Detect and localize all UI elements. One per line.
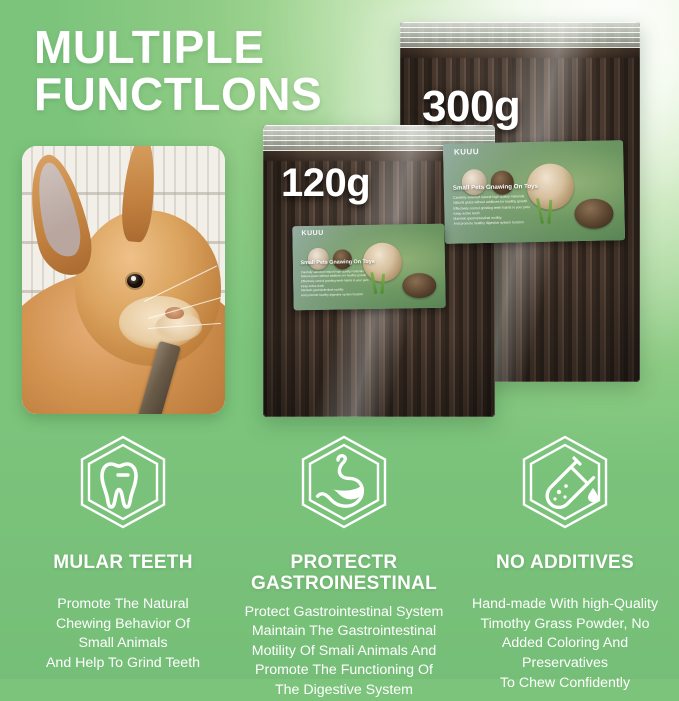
feature-body-line: Motility Of Smali Animals And	[240, 642, 448, 662]
feature-body-line: Timothy Grass Powder, No	[462, 615, 668, 635]
brand-logo-120g: KUUU	[301, 230, 323, 237]
zip-seal-lines	[400, 22, 640, 47]
feature-body-line: To Chew Confidently	[462, 674, 668, 694]
page-title: MULTIPLE FUNCTLONS	[34, 24, 322, 119]
feature-title-line: PROTECTR	[240, 552, 448, 573]
feature-body-mular-teeth: Promote The Natural Chewing Behavior Of …	[28, 595, 218, 673]
weight-label-120g: 120g	[281, 161, 370, 206]
feature-body-line: Promote The Functioning Of	[240, 661, 448, 681]
weight-label-300g: 300g	[422, 82, 520, 132]
page-title-line-2: FUNCTLONS	[34, 71, 322, 118]
feature-body-protect-gastrointestinal: Protect Gastrointestinal System Maintain…	[240, 603, 448, 701]
rabbit-eye	[127, 274, 143, 288]
feature-title-line: GASTROINESTINAL	[240, 573, 448, 594]
label-bullets-300g: Carefully selected natural high-quality …	[453, 194, 530, 227]
feature-title-protect-gastrointestinal: PROTECTR GASTROINESTINAL	[240, 552, 448, 595]
stomach-icon	[298, 434, 390, 530]
feature-no-additives: NO ADDITIVES Hand-made With high-Quality…	[462, 434, 668, 693]
product-label-120g: KUUU Small Pets Gnawing On Toys Carefull…	[292, 224, 445, 311]
feature-protect-gastrointestinal: PROTECTR GASTROINESTINAL Protect Gastroi…	[240, 434, 448, 701]
feature-body-line: And Help To Grind Teeth	[28, 654, 218, 674]
page-title-line-1: MULTIPLE	[34, 24, 322, 71]
brand-logo-300g: KUUU	[454, 148, 479, 157]
feature-body-line: Hand-made With high-Quality	[462, 595, 668, 615]
feature-title-mular-teeth: MULAR TEETH	[28, 552, 218, 573]
feature-body-line: Maintain The Gastrointestinal	[240, 622, 448, 642]
feature-title-no-additives: NO ADDITIVES	[462, 552, 668, 573]
rabbit-head	[75, 210, 221, 365]
test-tube-icon	[519, 434, 611, 530]
feature-body-line: Promote The Natural	[28, 595, 218, 615]
label-bullets-120g: Carefully selected natural high-quality …	[301, 269, 369, 298]
feature-body-line: The Digestive System	[240, 681, 448, 701]
feature-body-line: Added Coloring And	[462, 634, 668, 654]
feature-mular-teeth: MULAR TEETH Promote The Natural Chewing …	[28, 434, 218, 674]
rabbit-photo	[22, 146, 225, 414]
feature-body-line: Preservatives	[462, 654, 668, 674]
product-label-300g: KUUU Small Pets Gnawing On Toys Carefull…	[443, 140, 625, 244]
feature-body-line: Protect Gastrointestinal System	[240, 603, 448, 623]
feature-body-line: Chewing Behavior Of	[28, 615, 218, 635]
label-title-120g: Small Pets Gnawing On Toys	[300, 259, 374, 266]
feature-body-line: Small Animals	[28, 634, 218, 654]
zip-seal	[400, 22, 640, 48]
tooth-icon	[77, 434, 169, 530]
pet-photo	[403, 273, 437, 299]
